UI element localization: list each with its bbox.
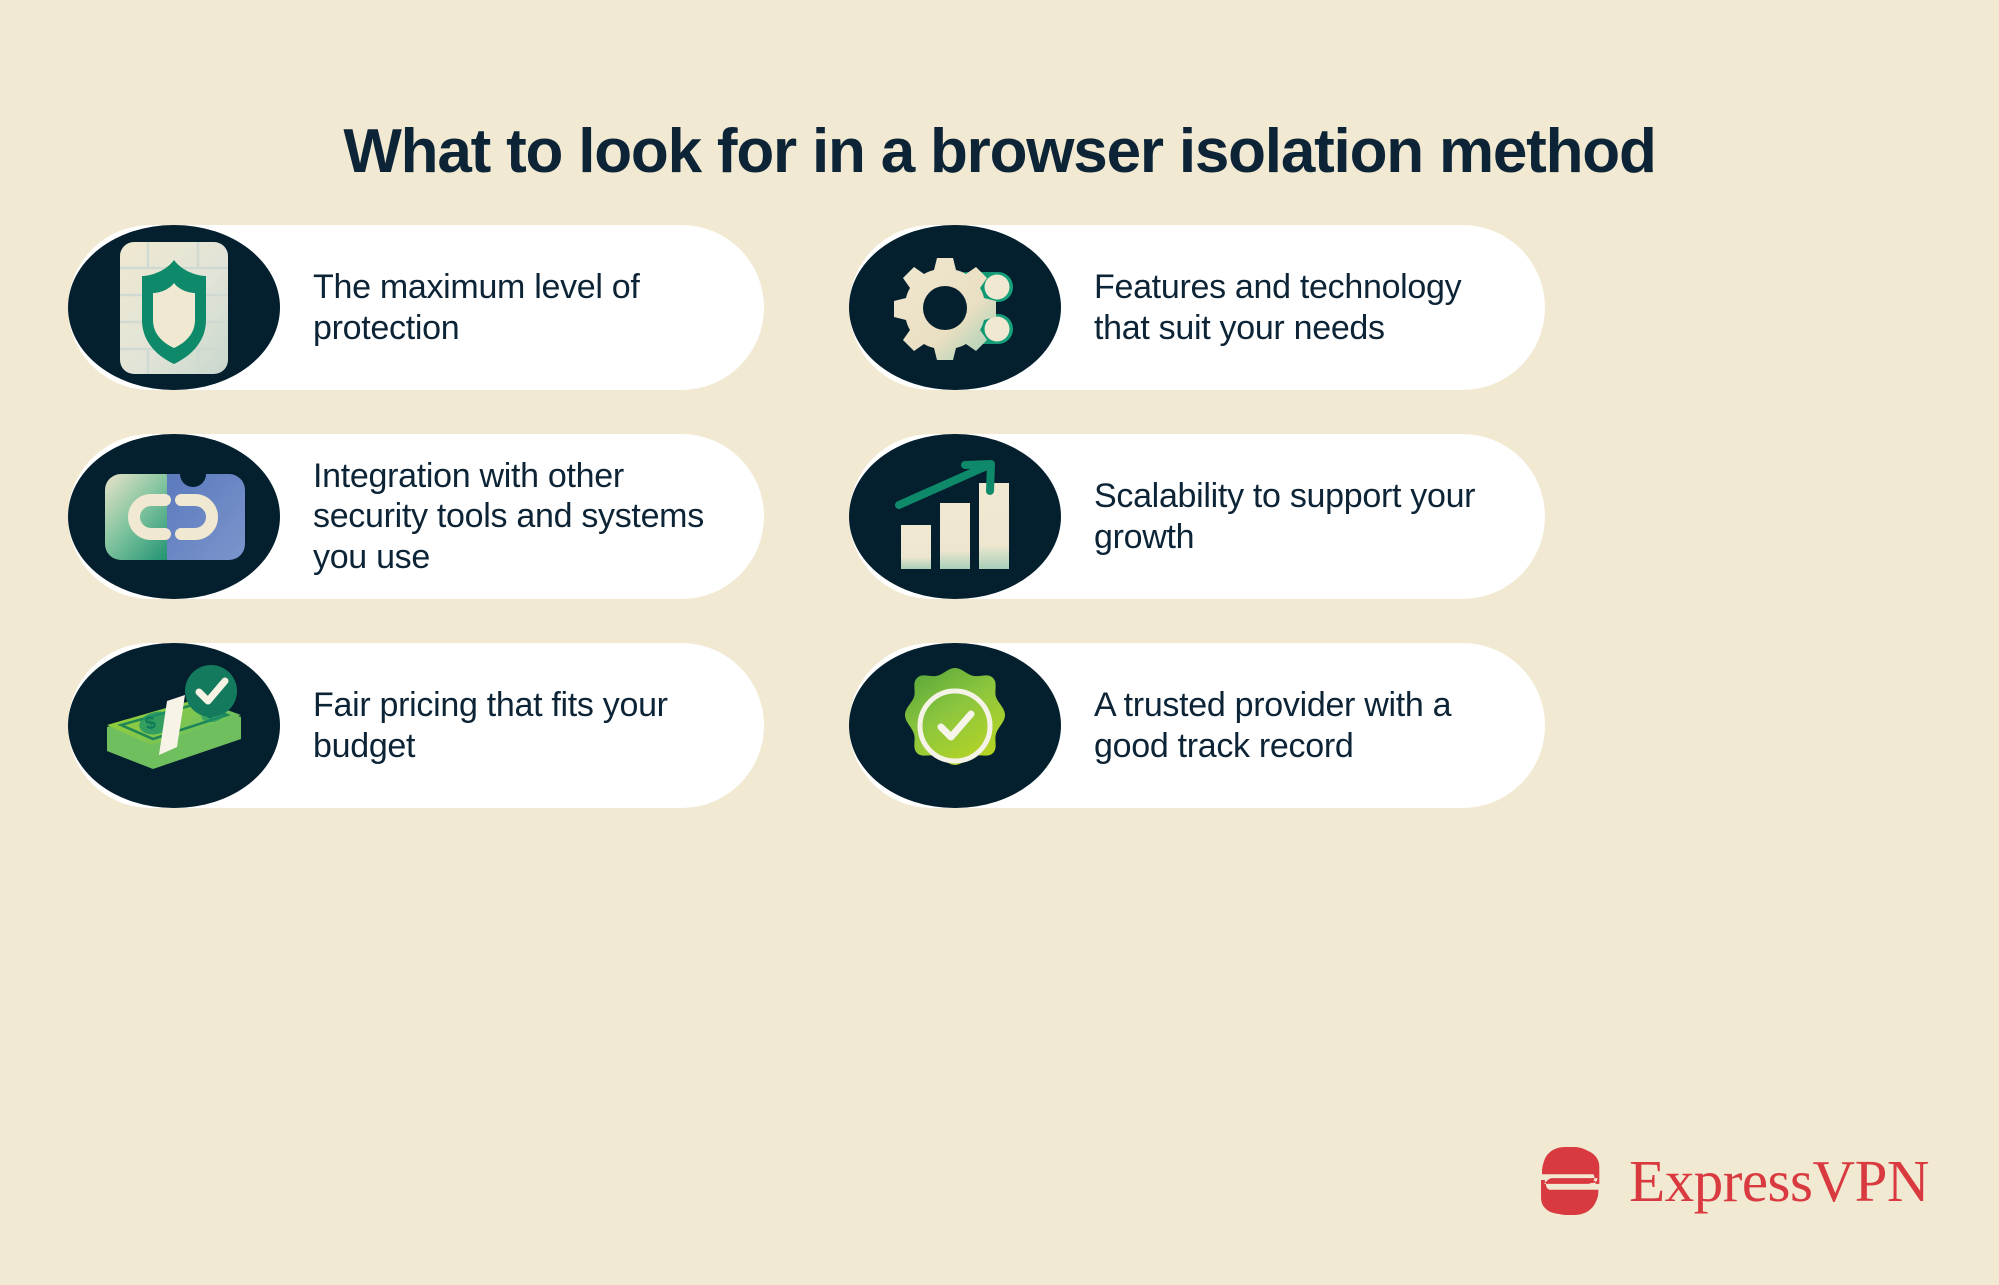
firewall-shield-icon [68,225,280,390]
page-title: What to look for in a browser isolation … [0,118,1999,186]
feature-card-trusted-provider[interactable]: A trusted provider with a good track rec… [849,643,1545,808]
feature-card-features-technology[interactable]: Features and technology that suit your n… [849,225,1545,390]
chain-link-icon [68,434,280,599]
feature-card-label: A trusted provider with a good track rec… [1094,685,1505,765]
grid-spacer [806,225,807,390]
gear-toggles-icon [849,225,1061,390]
money-check-icon: $ $ [68,643,280,808]
bar-chart-growth-icon [849,434,1061,599]
grid-spacer [806,434,807,599]
feature-card-label: Integration with other security tools an… [313,456,724,576]
feature-card-grid: The maximum level of protection [68,225,1931,808]
expressvpn-logo: ExpressVPN [1541,1147,1929,1215]
feature-card-integration[interactable]: Integration with other security tools an… [68,434,764,599]
feature-card-label: Scalability to support your growth [1094,476,1505,556]
expressvpn-e-mark-icon [1541,1147,1611,1215]
feature-card-maximum-protection[interactable]: The maximum level of protection [68,225,764,390]
feature-card-label: The maximum level of protection [313,267,724,347]
feature-card-label: Features and technology that suit your n… [1094,267,1505,347]
grid-spacer [806,643,807,808]
feature-card-scalability[interactable]: Scalability to support your growth [849,434,1545,599]
feature-card-label: Fair pricing that fits your budget [313,685,724,765]
verified-badge-icon [849,643,1061,808]
expressvpn-wordmark: ExpressVPN [1629,1152,1929,1211]
feature-card-fair-pricing[interactable]: $ $ Fair pricing that fits your budget [68,643,764,808]
infographic-canvas: What to look for in a browser isolation … [0,0,1999,1285]
